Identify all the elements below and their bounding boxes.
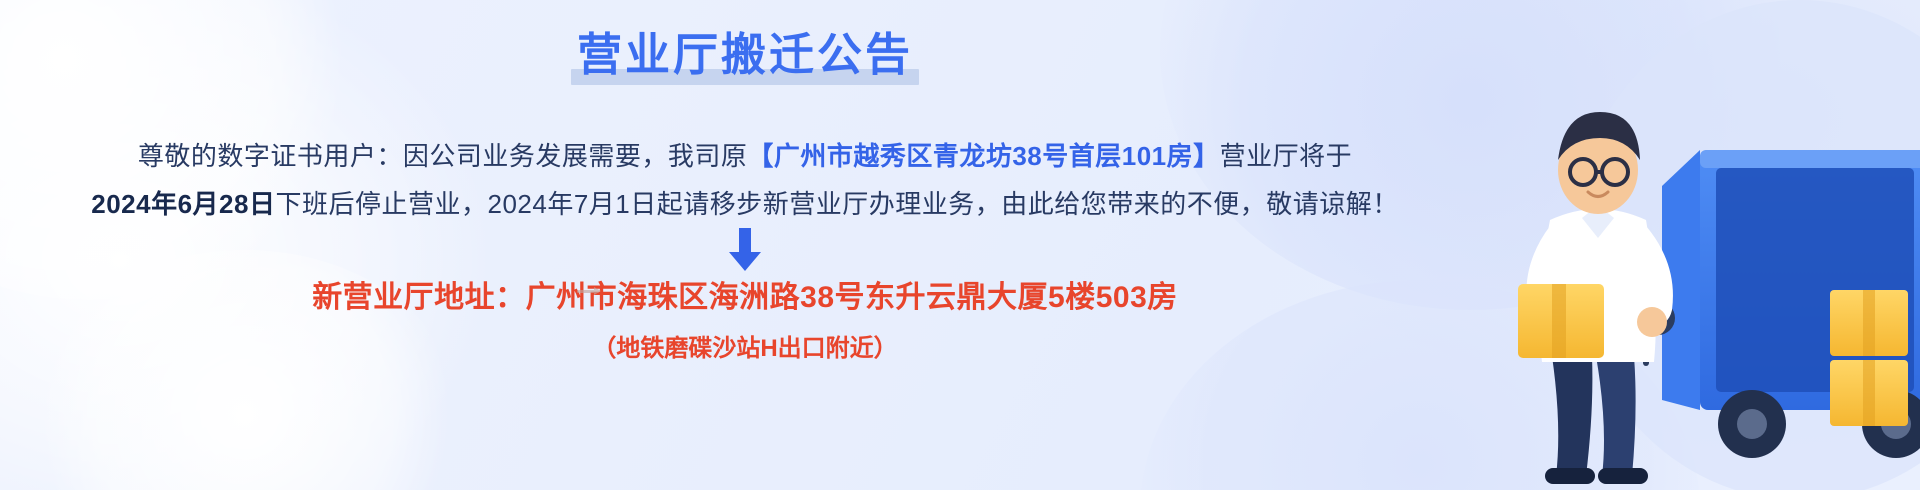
arrow-container: [0, 228, 1490, 272]
new-address-text: 新营业厅地址：广州市海珠区海洲路38号东升云鼎大厦5楼503房: [312, 272, 1178, 316]
notice-line-2: 2024年6月28日下班后停止营业，2024年7月1日起请移步新营业厅办理业务，…: [0, 180, 1490, 228]
notice-line-2-tail: 下班后停止营业，2024年7月1日起请移步新营业厅办理业务，由此给您带来的不便，…: [275, 189, 1398, 219]
closing-date: 2024年6月28日: [91, 189, 275, 219]
notice-line-1-tail: 营业厅将于: [1220, 141, 1353, 171]
notice-paragraph: 尊敬的数字证书用户：因公司业务发展需要，我司原【广州市越秀区青龙坊38号首层10…: [0, 132, 1490, 228]
relocation-notice-banner: 营业厅搬迁公告 尊敬的数字证书用户：因公司业务发展需要，我司原【广州市越秀区青龙…: [0, 0, 1920, 490]
notice-line-1: 尊敬的数字证书用户：因公司业务发展需要，我司原【广州市越秀区青龙坊38号首层10…: [0, 132, 1490, 180]
banner-title-text: 营业厅搬迁公告: [577, 29, 913, 80]
title-container: 营业厅搬迁公告: [0, 28, 1490, 87]
new-address-block: 新营业厅地址：广州市海珠区海洲路38号东升云鼎大厦5楼503房 （地铁磨碟沙站H…: [0, 272, 1490, 363]
banner-title: 营业厅搬迁公告: [571, 28, 919, 87]
old-address-highlight: 【广州市越秀区青龙坊38号首层101房】: [747, 141, 1219, 171]
banner-content: 营业厅搬迁公告 尊敬的数字证书用户：因公司业务发展需要，我司原【广州市越秀区青龙…: [0, 0, 1490, 490]
down-arrow-icon: [727, 228, 763, 272]
pointer-arrow-icon: [577, 290, 599, 293]
notice-line-1-lead: 尊敬的数字证书用户：因公司业务发展需要，我司原: [138, 141, 748, 171]
new-address-note: （地铁磨碟沙站H出口附近）: [0, 328, 1490, 363]
